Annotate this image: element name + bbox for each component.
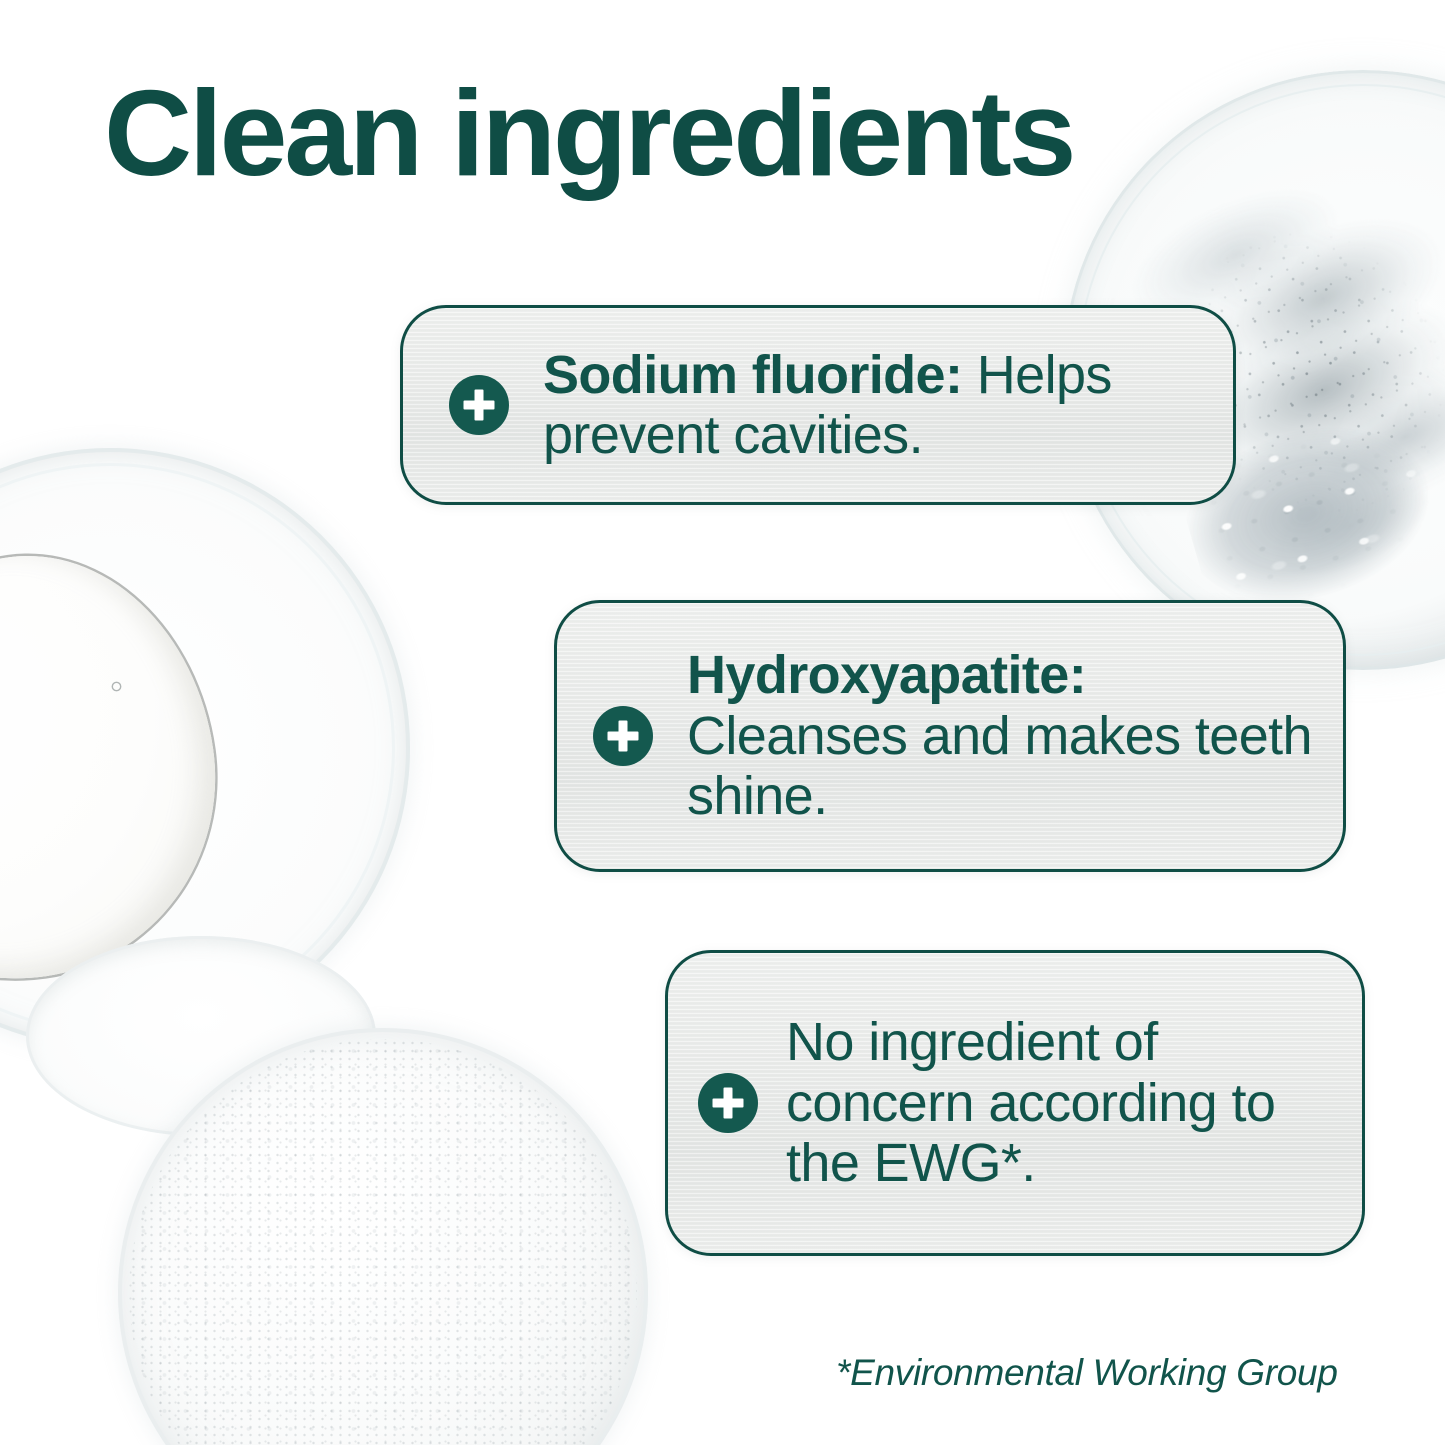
petri-dish-rim-edge — [26, 936, 376, 1136]
petri-dish-clear-gel-left-icon — [0, 448, 410, 1048]
page-title: Clean ingredients — [104, 72, 1073, 194]
ingredient-card-text: Hydroxyapatite:Cleanses and makes teeth … — [687, 645, 1319, 826]
footnote-label: *Environmental Working Group — [836, 1352, 1338, 1394]
ingredient-card-ewg: No ingredient of concern according to th… — [665, 950, 1365, 1256]
ingredient-description-label: No ingredient of concern according to th… — [786, 1012, 1275, 1193]
ingredient-card-sodium-fluoride: Sodium fluoride: Helps prevent cavities. — [400, 305, 1236, 505]
plus-circle-icon — [698, 1073, 758, 1133]
plus-circle-icon — [593, 706, 653, 766]
ingredient-name-label: Sodium fluoride: — [543, 345, 962, 405]
ingredient-card-text: Sodium fluoride: Helps prevent cavities. — [543, 345, 1203, 466]
infographic-canvas: Clean ingredients Sodium fluoride: Helps… — [0, 0, 1445, 1445]
ingredient-name-label: Hydroxyapatite: — [687, 645, 1319, 705]
ingredient-description-label: Cleanses and makes teeth shine. — [687, 706, 1319, 827]
plus-circle-icon — [449, 375, 509, 435]
gel-bubble-shape — [113, 683, 120, 690]
ingredient-card-text: No ingredient of concern according to th… — [786, 1012, 1340, 1193]
petri-dish-fine-powder-bottom-left-icon — [118, 1028, 648, 1445]
ingredient-card-hydroxyapatite: Hydroxyapatite:Cleanses and makes teeth … — [554, 600, 1346, 872]
gel-blob-shape — [0, 533, 241, 1007]
